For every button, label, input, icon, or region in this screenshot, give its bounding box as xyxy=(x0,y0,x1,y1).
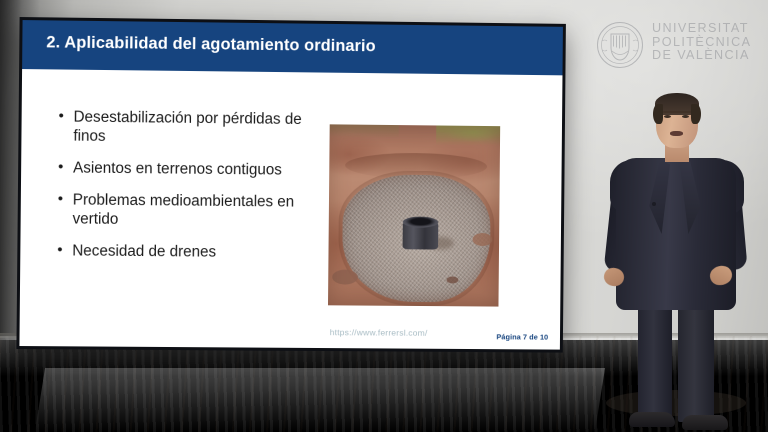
presenter-shoe-left xyxy=(629,412,675,427)
upv-line-3: DE VALÈNCIA xyxy=(652,49,751,63)
list-item: Problemas medioambientales en vertido xyxy=(57,191,318,231)
presenter-hair-side-left xyxy=(653,104,663,124)
slide-title: 2. Aplicabilidad del agotamiento ordinar… xyxy=(46,33,376,56)
slide-content: 2. Aplicabilidad del agotamiento ordinar… xyxy=(19,20,563,350)
slide-header-band: 2. Aplicabilidad del agotamiento ordinar… xyxy=(22,20,563,75)
presenter-leg-left xyxy=(638,295,672,420)
video-frame: UNIVERSITAT POLITÈCNICA DE VALÈNCIA 2. A… xyxy=(0,0,768,432)
presenter-eye-right xyxy=(682,115,689,118)
photo-source-url[interactable]: https://www.ferrersl.com/ xyxy=(330,327,428,338)
upv-line-1: UNIVERSITAT xyxy=(652,22,751,36)
upv-wordmark: UNIVERSITAT POLITÈCNICA DE VALÈNCIA xyxy=(652,22,751,63)
presenter-mouth xyxy=(670,131,683,136)
excavation-photo-image xyxy=(328,124,500,306)
presenter-floor-shadow xyxy=(606,390,746,416)
slide-photo xyxy=(328,124,500,306)
presenter-lapel-microphone xyxy=(652,202,656,206)
presenter-eye-left xyxy=(664,115,671,118)
slide-bullet-list: Desestabilización por pérdidas de finos … xyxy=(56,108,318,276)
presenter xyxy=(586,90,768,432)
photo-vignette xyxy=(328,124,500,306)
list-item: Necesidad de drenes xyxy=(56,242,316,263)
upv-logo: UNIVERSITAT POLITÈCNICA DE VALÈNCIA xyxy=(596,19,756,73)
floor-slide-reflection xyxy=(35,368,605,432)
slide-page-number: Página 7 de 10 xyxy=(496,332,548,341)
presenter-jacket xyxy=(616,158,736,310)
presenter-shoe-right xyxy=(682,415,728,430)
list-item: Asientos en terrenos contiguos xyxy=(57,159,317,180)
presenter-hair-side-right xyxy=(691,104,701,124)
list-item: Desestabilización por pérdidas de finos xyxy=(57,108,318,149)
projected-slide: 2. Aplicabilidad del agotamiento ordinar… xyxy=(16,17,566,353)
presenter-eyebrows xyxy=(663,111,691,113)
upv-seal-icon xyxy=(596,21,644,69)
presenter-leg-right xyxy=(678,295,714,422)
